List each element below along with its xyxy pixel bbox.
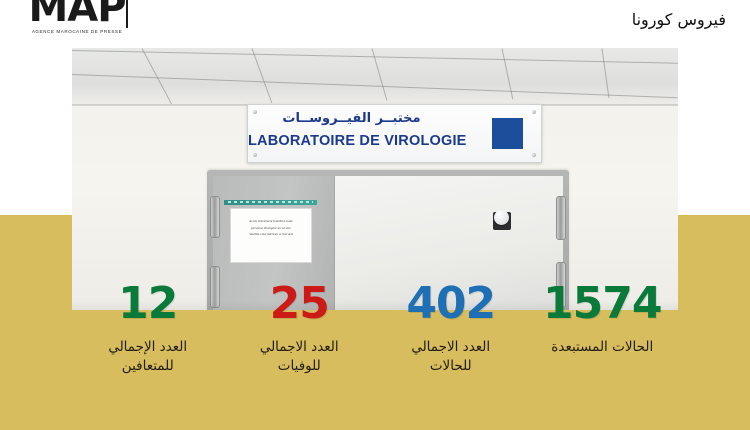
stat-value: 25 [270,280,329,328]
sign-screw-icon [532,110,536,114]
laboratory-photo: مختبــر الفيــروســات LABORATOIRE DE VIR… [72,48,678,310]
stat-value: 1574 [543,280,661,328]
stat-excluded: 1574 الحالات المستبعدة [527,280,679,430]
stat-cases: 402 العدد الاجمالي للحالات [375,280,527,430]
lab-sign-arabic: مختبــر الفيــروســات [248,111,455,126]
stat-recovered: 12 العدد الإجمالي للمتعافين [72,280,224,430]
stat-label: العدد الإجمالي للمتعافين [88,338,208,376]
notice-header-strip [224,200,317,205]
map-logo: MAP AGENCE MAROCAINE DE PRESSE [22,0,132,34]
lab-sign: مختبــر الفيــروســات LABORATOIRE DE VIR… [247,104,542,163]
ministry-logo-icon [492,118,523,149]
stat-value: 402 [406,280,495,328]
infographic-canvas: MAP AGENCE MAROCAINE DE PRESSE فيروس كور… [0,0,750,430]
stat-value: 12 [118,280,177,328]
map-logo-wordmark: MAP [22,0,132,28]
door-notice: Accès strictement interdit à toute perso… [230,208,312,263]
logo-divider [126,0,128,28]
sign-screw-icon [532,153,536,157]
map-logo-tagline: AGENCE MAROCAINE DE PRESSE [22,29,132,34]
door-push-button-icon [493,212,511,230]
stat-label: الحالات المستبعدة [551,338,653,357]
stat-deaths: 25 العدد الاجمالي للوفيات [224,280,376,430]
door-hinge-icon [556,196,566,240]
stat-label: العدد الاجمالي للوفيات [239,338,359,376]
ceiling [72,48,678,110]
notice-line-3: Veuillez vous adresser à l'accueil [236,231,306,238]
stat-label: العدد الاجمالي للحالات [391,338,511,376]
sign-screw-icon [253,153,257,157]
statistics-row: 12 العدد الإجمالي للمتعافين 25 العدد الا… [72,280,678,430]
door-hinge-icon [210,196,220,238]
page-title: فيروس كورونا [632,10,726,29]
lab-sign-french: LABORATOIRE DE VIROLOGIE [248,133,455,149]
